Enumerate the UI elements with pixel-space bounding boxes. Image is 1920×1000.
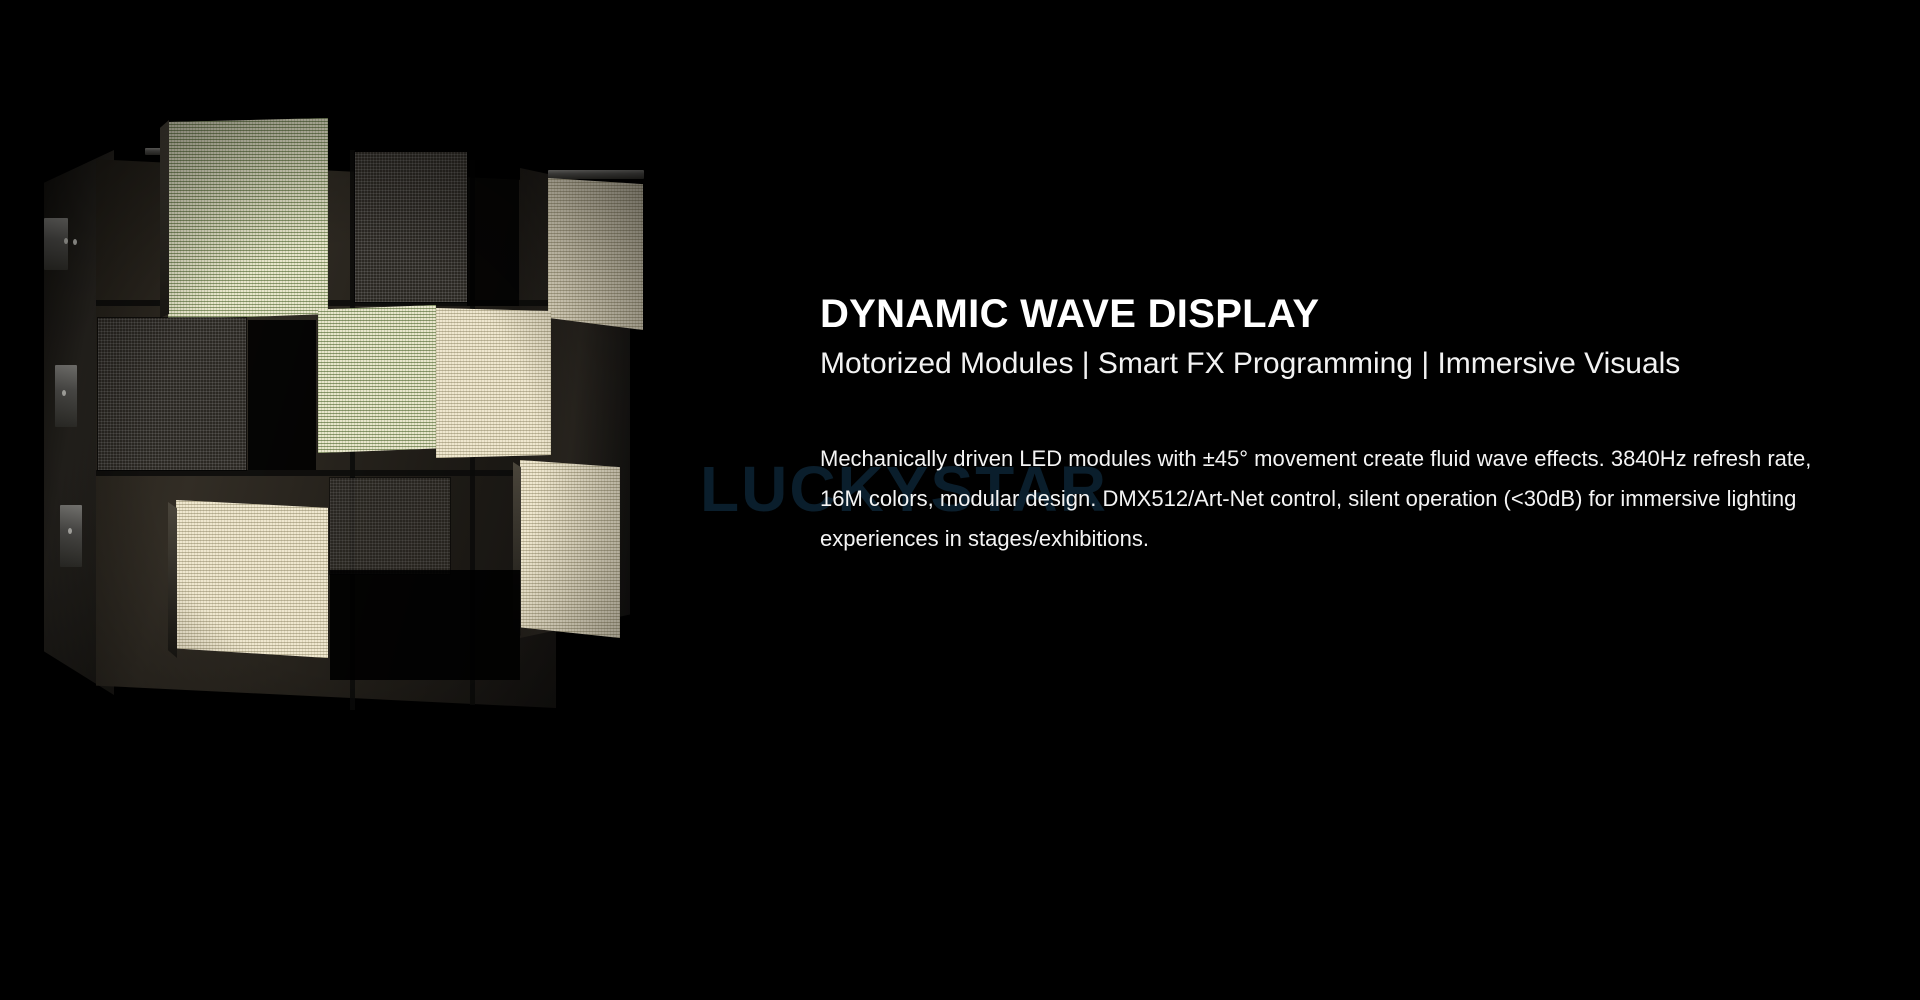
bracket-bolt — [73, 239, 77, 245]
led-module-unlit — [355, 152, 467, 302]
led-module-lit — [436, 308, 551, 458]
led-module-lit — [520, 460, 620, 638]
mounting-bracket — [55, 365, 77, 427]
subtitle: Motorized Modules | Smart FX Programming… — [820, 343, 1720, 385]
cabinet-shadow — [248, 320, 316, 470]
led-wave-display-assembly — [0, 0, 820, 1000]
led-module-unlit — [330, 478, 450, 574]
page-title: DYNAMIC WAVE DISPLAY — [820, 292, 1880, 337]
bracket-bolt — [68, 528, 72, 534]
copy-block: DYNAMIC WAVE DISPLAY Motorized Modules |… — [820, 292, 1880, 559]
cabinet-shadow — [467, 156, 519, 306]
led-module-edge — [168, 502, 177, 658]
bracket-bolt — [62, 390, 66, 396]
led-module-edge — [160, 120, 169, 318]
mounting-bracket — [60, 505, 82, 567]
mounting-bracket — [44, 218, 68, 270]
product-photo — [0, 0, 820, 1000]
cabinet-seam — [96, 470, 556, 476]
slide-canvas: LUCKYSTAR DYNAMIC WAVE DISPLAY Motorized… — [0, 0, 1920, 1000]
description-paragraph: Mechanically driven LED modules with ±45… — [820, 439, 1840, 559]
mounting-bracket — [548, 170, 644, 179]
led-module-lit — [318, 305, 436, 453]
led-module-lit — [548, 178, 643, 330]
led-module-unlit — [98, 318, 246, 470]
led-module-lit — [168, 118, 328, 320]
cabinet-shadow — [330, 570, 520, 680]
led-module-lit — [176, 500, 328, 658]
bracket-bolt — [64, 238, 68, 244]
